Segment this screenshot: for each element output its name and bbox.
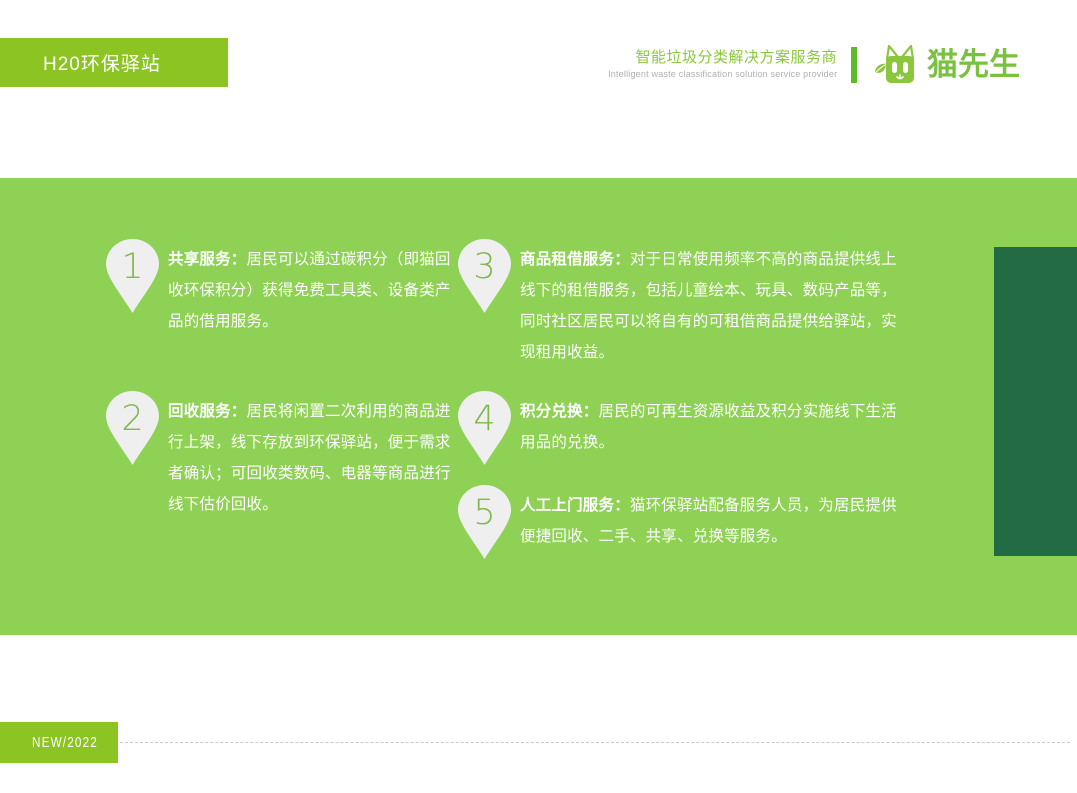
list-item: 1 共享服务：居民可以通过碳积分（即猫回收环保积分）获得免费工具类、设备类产品的… xyxy=(105,238,465,337)
list-item-title: 商品租借服务： xyxy=(520,251,630,268)
items-column-right: 3 商品租借服务：对于日常使用频率不高的商品提供线上线下的租借服务，包括儿童绘本… xyxy=(457,238,897,560)
map-pin-icon: 3 xyxy=(457,238,512,314)
pin-number: 1 xyxy=(105,247,160,287)
pin-number: 3 xyxy=(457,247,512,287)
map-pin-icon: 1 xyxy=(105,238,160,314)
list-item-text: 积分兑换：居民的可再生资源收益及积分实施线下生活用品的兑换。 xyxy=(520,390,897,458)
pin-number: 4 xyxy=(457,399,512,439)
footer-badge: NEW/2022 xyxy=(0,722,118,763)
page-footer: NEW/2022 xyxy=(0,722,1077,774)
tagline-chinese: 智能垃圾分类解决方案服务商 xyxy=(635,48,837,68)
list-item-title: 共享服务： xyxy=(168,251,247,268)
vertical-divider xyxy=(851,47,857,83)
list-item: 3 商品租借服务：对于日常使用频率不高的商品提供线上线下的租借服务，包括儿童绘本… xyxy=(457,238,897,368)
list-item-text: 商品租借服务：对于日常使用频率不高的商品提供线上线下的租借服务，包括儿童绘本、玩… xyxy=(520,238,897,368)
list-item-text: 人工上门服务：猫环保驿站配备服务人员，为居民提供便捷回收、二手、共享、兑换等服务… xyxy=(520,484,897,552)
pin-number: 5 xyxy=(457,493,512,533)
tagline-english: Intelligent waste classification solutio… xyxy=(608,68,837,82)
list-item-text: 共享服务：居民可以通过碳积分（即猫回收环保积分）获得免费工具类、设备类产品的借用… xyxy=(168,238,465,337)
list-item-title: 回收服务： xyxy=(168,403,247,420)
pin-number: 2 xyxy=(105,399,160,439)
map-pin-icon: 4 xyxy=(457,390,512,466)
items-column-left: 1 共享服务：居民可以通过碳积分（即猫回收环保积分）获得免费工具类、设备类产品的… xyxy=(105,238,465,520)
page-title: H20环保驿站 xyxy=(43,49,161,76)
tagline-group: 智能垃圾分类解决方案服务商 Intelligent waste classifi… xyxy=(596,48,837,82)
logo-wordmark: 猫先生 xyxy=(927,48,1020,82)
logo-group: 猫先生 xyxy=(873,44,1020,86)
brand-block: 智能垃圾分类解决方案服务商 Intelligent waste classifi… xyxy=(596,40,1020,90)
map-pin-icon: 2 xyxy=(105,390,160,466)
cat-head-icon xyxy=(873,44,919,86)
footer-divider xyxy=(120,742,1070,743)
list-item: 4 积分兑换：居民的可再生资源收益及积分实施线下生活用品的兑换。 xyxy=(457,390,897,466)
content-panel: 1 共享服务：居民可以通过碳积分（即猫回收环保积分）获得免费工具类、设备类产品的… xyxy=(0,178,1077,635)
list-item: 2 回收服务：居民将闲置二次利用的商品进行上架，线下存放到环保驿站，便于需求者确… xyxy=(105,390,465,520)
accent-rectangle xyxy=(994,247,1077,556)
page-header: H20环保驿站 智能垃圾分类解决方案服务商 Intelligent waste … xyxy=(0,0,1077,150)
map-pin-icon: 5 xyxy=(457,484,512,560)
footer-badge-label: NEW/2022 xyxy=(32,734,98,751)
list-item-title: 人工上门服务： xyxy=(520,497,630,514)
list-item: 5 人工上门服务：猫环保驿站配备服务人员，为居民提供便捷回收、二手、共享、兑换等… xyxy=(457,484,897,560)
title-badge: H20环保驿站 xyxy=(0,38,228,87)
list-item-title: 积分兑换： xyxy=(520,403,599,420)
list-item-text: 回收服务：居民将闲置二次利用的商品进行上架，线下存放到环保驿站，便于需求者确认；… xyxy=(168,390,465,520)
